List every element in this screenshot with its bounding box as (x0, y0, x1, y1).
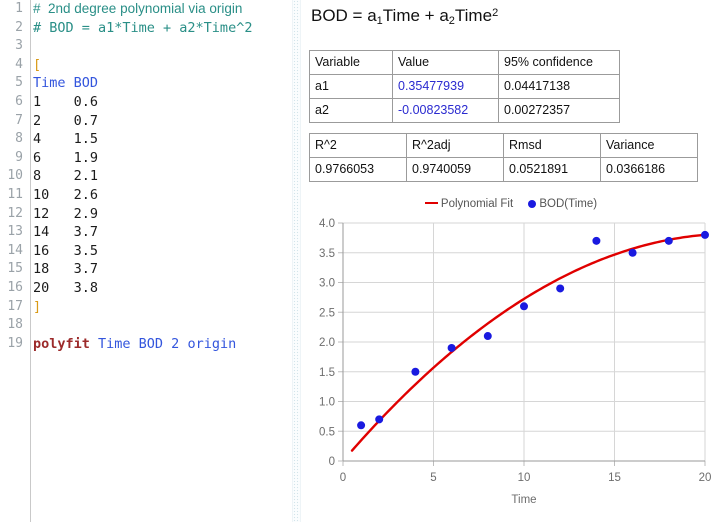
x-tick-label: 5 (430, 472, 436, 484)
x-tick-label: 15 (608, 472, 621, 484)
code-line-text[interactable]: 20 3.8 (26, 279, 98, 298)
data-point (629, 249, 637, 257)
col-header-rmsd: Rmsd (504, 134, 601, 158)
col-header-confidence: 95% confidence (499, 51, 620, 75)
code-line[interactable]: 1518 3.7 (0, 260, 292, 279)
cell-value-a2: -0.00823582 (393, 99, 499, 123)
code-token-num: 2 0.7 (33, 113, 98, 129)
line-number: 19 (0, 335, 26, 354)
code-token-num: 12 2.9 (33, 206, 98, 222)
code-line[interactable]: 84 1.5 (0, 130, 292, 149)
line-number: 10 (0, 167, 26, 186)
code-line[interactable]: 4[ (0, 56, 292, 75)
code-line[interactable]: 1212 2.9 (0, 205, 292, 224)
code-line[interactable]: 72 0.7 (0, 112, 292, 131)
code-token-bracket: [ (33, 57, 41, 73)
statistics-table: R^2 R^2adj Rmsd Variance 0.9766053 0.974… (309, 133, 698, 182)
col-header-r2adj: R^2adj (407, 134, 504, 158)
line-number: 9 (0, 149, 26, 168)
line-number: 1 (0, 0, 26, 19)
code-token-num: 8 2.1 (33, 168, 98, 184)
y-tick-label: 4.0 (319, 218, 335, 230)
code-line[interactable]: 96 1.9 (0, 149, 292, 168)
line-number: 11 (0, 186, 26, 205)
cell-value-a1: 0.35477939 (393, 75, 499, 99)
y-tick-label: 3.5 (319, 248, 335, 260)
cell-r2adj: 0.9740059 (407, 158, 504, 182)
code-editor-pane[interactable]: 1# 2nd degree polynomial via origin2# BO… (0, 0, 292, 522)
code-token-num: 10 2.6 (33, 187, 98, 203)
line-number: 13 (0, 223, 26, 242)
cell-variance: 0.0366186 (601, 158, 698, 182)
code-line[interactable]: 108 2.1 (0, 167, 292, 186)
data-point (701, 231, 709, 239)
code-line-text[interactable]: polyfit Time BOD 2 origin (26, 335, 236, 354)
code-token-ident: Time BOD (33, 75, 98, 91)
col-header-r2: R^2 (310, 134, 407, 158)
data-point (448, 344, 456, 352)
code-token-num: 16 3.5 (33, 243, 98, 259)
code-line-text[interactable]: 1 0.6 (26, 93, 98, 112)
model-equation-sup: 2 (492, 7, 498, 19)
app-root: 1# 2nd degree polynomial via origin2# BO… (0, 0, 721, 522)
line-number: 16 (0, 279, 26, 298)
line-number: 14 (0, 242, 26, 261)
code-line-text[interactable]: Time BOD (26, 74, 98, 93)
table-row: 0.9766053 0.9740059 0.0521891 0.0366186 (310, 158, 698, 182)
code-line[interactable]: 3 (0, 37, 292, 56)
line-number: 3 (0, 37, 26, 56)
data-point (357, 421, 365, 429)
chart-area: Polynomial Fit BOD(Time) 00.51.01.52.02.… (301, 186, 721, 522)
code-line[interactable]: 19polyfit Time BOD 2 origin (0, 335, 292, 354)
cell-variable-a2: a2 (310, 99, 393, 123)
line-number: 8 (0, 130, 26, 149)
code-line[interactable]: 1314 3.7 (0, 223, 292, 242)
model-equation-mid: Time + a (383, 6, 449, 25)
gutter-divider (30, 0, 31, 522)
y-tick-label: 1.5 (319, 367, 335, 379)
y-tick-label: 0 (329, 456, 335, 468)
data-point (592, 237, 600, 245)
code-line-text[interactable]: 18 3.7 (26, 260, 98, 279)
code-token-num: 6 1.9 (33, 150, 98, 166)
results-pane: BOD = a1Time + a2Time2 Variable Value 95… (301, 0, 721, 522)
line-number: 17 (0, 298, 26, 317)
code-line[interactable]: 18 (0, 316, 292, 335)
code-line-text[interactable]: ] (26, 298, 41, 317)
y-tick-label: 1.0 (319, 397, 335, 409)
x-axis-title: Time (511, 494, 536, 506)
model-equation-suffix: Time (455, 6, 492, 25)
line-number: 18 (0, 316, 26, 335)
x-tick-label: 20 (699, 472, 712, 484)
code-line[interactable]: 1110 2.6 (0, 186, 292, 205)
code-line-text[interactable]: 6 1.9 (26, 149, 98, 168)
col-header-variable: Variable (310, 51, 393, 75)
col-header-value: Value (393, 51, 499, 75)
data-point (484, 332, 492, 340)
data-point (375, 415, 383, 423)
cell-variable-a1: a1 (310, 75, 393, 99)
fit-curve (352, 235, 705, 451)
code-line[interactable]: 5Time BOD (0, 74, 292, 93)
code-line-text[interactable]: 4 1.5 (26, 130, 98, 149)
code-line-text[interactable]: 14 3.7 (26, 223, 98, 242)
code-line-text[interactable]: 8 2.1 (26, 167, 98, 186)
pane-splitter[interactable] (292, 0, 301, 522)
line-number: 5 (0, 74, 26, 93)
line-number: 15 (0, 260, 26, 279)
line-number: 7 (0, 112, 26, 131)
data-point (411, 368, 419, 376)
code-token-kw: polyfit (33, 336, 90, 352)
plot-svg: 00.51.01.52.02.53.03.54.005101520Time (301, 186, 721, 522)
cell-rmsd: 0.0521891 (504, 158, 601, 182)
data-point (520, 302, 528, 310)
x-tick-label: 10 (518, 472, 531, 484)
code-token-num: 14 3.7 (33, 224, 98, 240)
model-equation-prefix: BOD = a (311, 6, 377, 25)
table-header-row: Variable Value 95% confidence (310, 51, 620, 75)
coefficients-table: Variable Value 95% confidence a1 0.35477… (309, 50, 620, 123)
y-tick-label: 2.0 (319, 337, 335, 349)
x-tick-label: 0 (340, 472, 346, 484)
code-line[interactable]: 61 0.6 (0, 93, 292, 112)
code-line-text[interactable]: # 2nd degree polynomial via origin (26, 0, 242, 19)
y-tick-label: 0.5 (319, 426, 335, 438)
line-number: 12 (0, 205, 26, 224)
data-point (665, 237, 673, 245)
code-token-num: 1 0.6 (33, 94, 98, 110)
code-token-num: 18 3.7 (33, 261, 98, 277)
code-token-ident: Time BOD 2 origin (90, 336, 236, 352)
code-line[interactable]: 1# 2nd degree polynomial via origin (0, 0, 292, 19)
line-number: 2 (0, 19, 26, 38)
code-line[interactable]: 1620 3.8 (0, 279, 292, 298)
code-token-comment: # 2nd degree polynomial via origin (33, 1, 242, 16)
line-number: 4 (0, 56, 26, 75)
col-header-variance: Variance (601, 134, 698, 158)
code-line-text[interactable]: 10 2.6 (26, 186, 98, 205)
code-token-bracket: ] (33, 299, 41, 315)
table-row: a1 0.35477939 0.04417138 (310, 75, 620, 99)
data-point (556, 284, 564, 292)
y-tick-label: 3.0 (319, 278, 335, 290)
code-token-num: 20 3.8 (33, 280, 98, 296)
code-lines[interactable]: 1# 2nd degree polynomial via origin2# BO… (0, 0, 292, 353)
cell-confidence-a2: 0.00272357 (499, 99, 620, 123)
code-line-text[interactable]: [ (26, 56, 41, 75)
table-header-row: R^2 R^2adj Rmsd Variance (310, 134, 698, 158)
model-equation-title: BOD = a1Time + a2Time2 (311, 6, 498, 27)
code-line[interactable]: 1416 3.5 (0, 242, 292, 261)
code-line-text[interactable]: # BOD = a1*Time + a2*Time^2 (26, 19, 252, 38)
code-line[interactable]: 2# BOD = a1*Time + a2*Time^2 (0, 19, 292, 38)
code-token-comment-mono: # BOD = a1*Time + a2*Time^2 (33, 20, 252, 36)
table-row: a2 -0.00823582 0.00272357 (310, 99, 620, 123)
cell-r2: 0.9766053 (310, 158, 407, 182)
cell-confidence-a1: 0.04417138 (499, 75, 620, 99)
code-token-num: 4 1.5 (33, 131, 98, 147)
y-tick-label: 2.5 (319, 307, 335, 319)
line-number: 6 (0, 93, 26, 112)
code-line-text[interactable]: 2 0.7 (26, 112, 98, 131)
code-line[interactable]: 17] (0, 298, 292, 317)
code-line-text[interactable]: 16 3.5 (26, 242, 98, 261)
code-line-text[interactable]: 12 2.9 (26, 205, 98, 224)
